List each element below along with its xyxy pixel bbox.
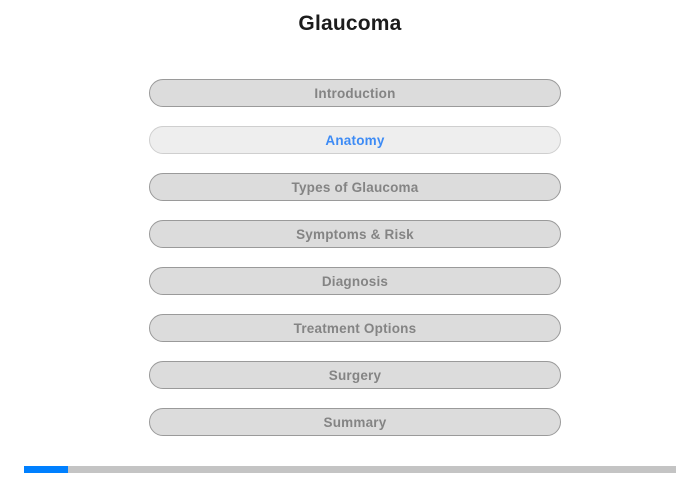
menu-item-types-of-glaucoma[interactable]: Types of Glaucoma [149, 173, 561, 201]
menu-item-surgery[interactable]: Surgery [149, 361, 561, 389]
menu-item-summary[interactable]: Summary [149, 408, 561, 436]
menu-item-introduction[interactable]: Introduction [149, 79, 561, 107]
slide-root: Glaucoma IntroductionAnatomyTypes of Gla… [0, 0, 700, 480]
progress-bar-fill [24, 466, 68, 473]
menu-item-symptoms-and-risk[interactable]: Symptoms & Risk [149, 220, 561, 248]
menu-item-diagnosis[interactable]: Diagnosis [149, 267, 561, 295]
navigation-menu: IntroductionAnatomyTypes of GlaucomaSymp… [149, 79, 561, 436]
menu-item-treatment-options[interactable]: Treatment Options [149, 314, 561, 342]
page-title: Glaucoma [0, 11, 700, 37]
progress-bar[interactable] [24, 466, 676, 473]
menu-item-anatomy[interactable]: Anatomy [149, 126, 561, 154]
